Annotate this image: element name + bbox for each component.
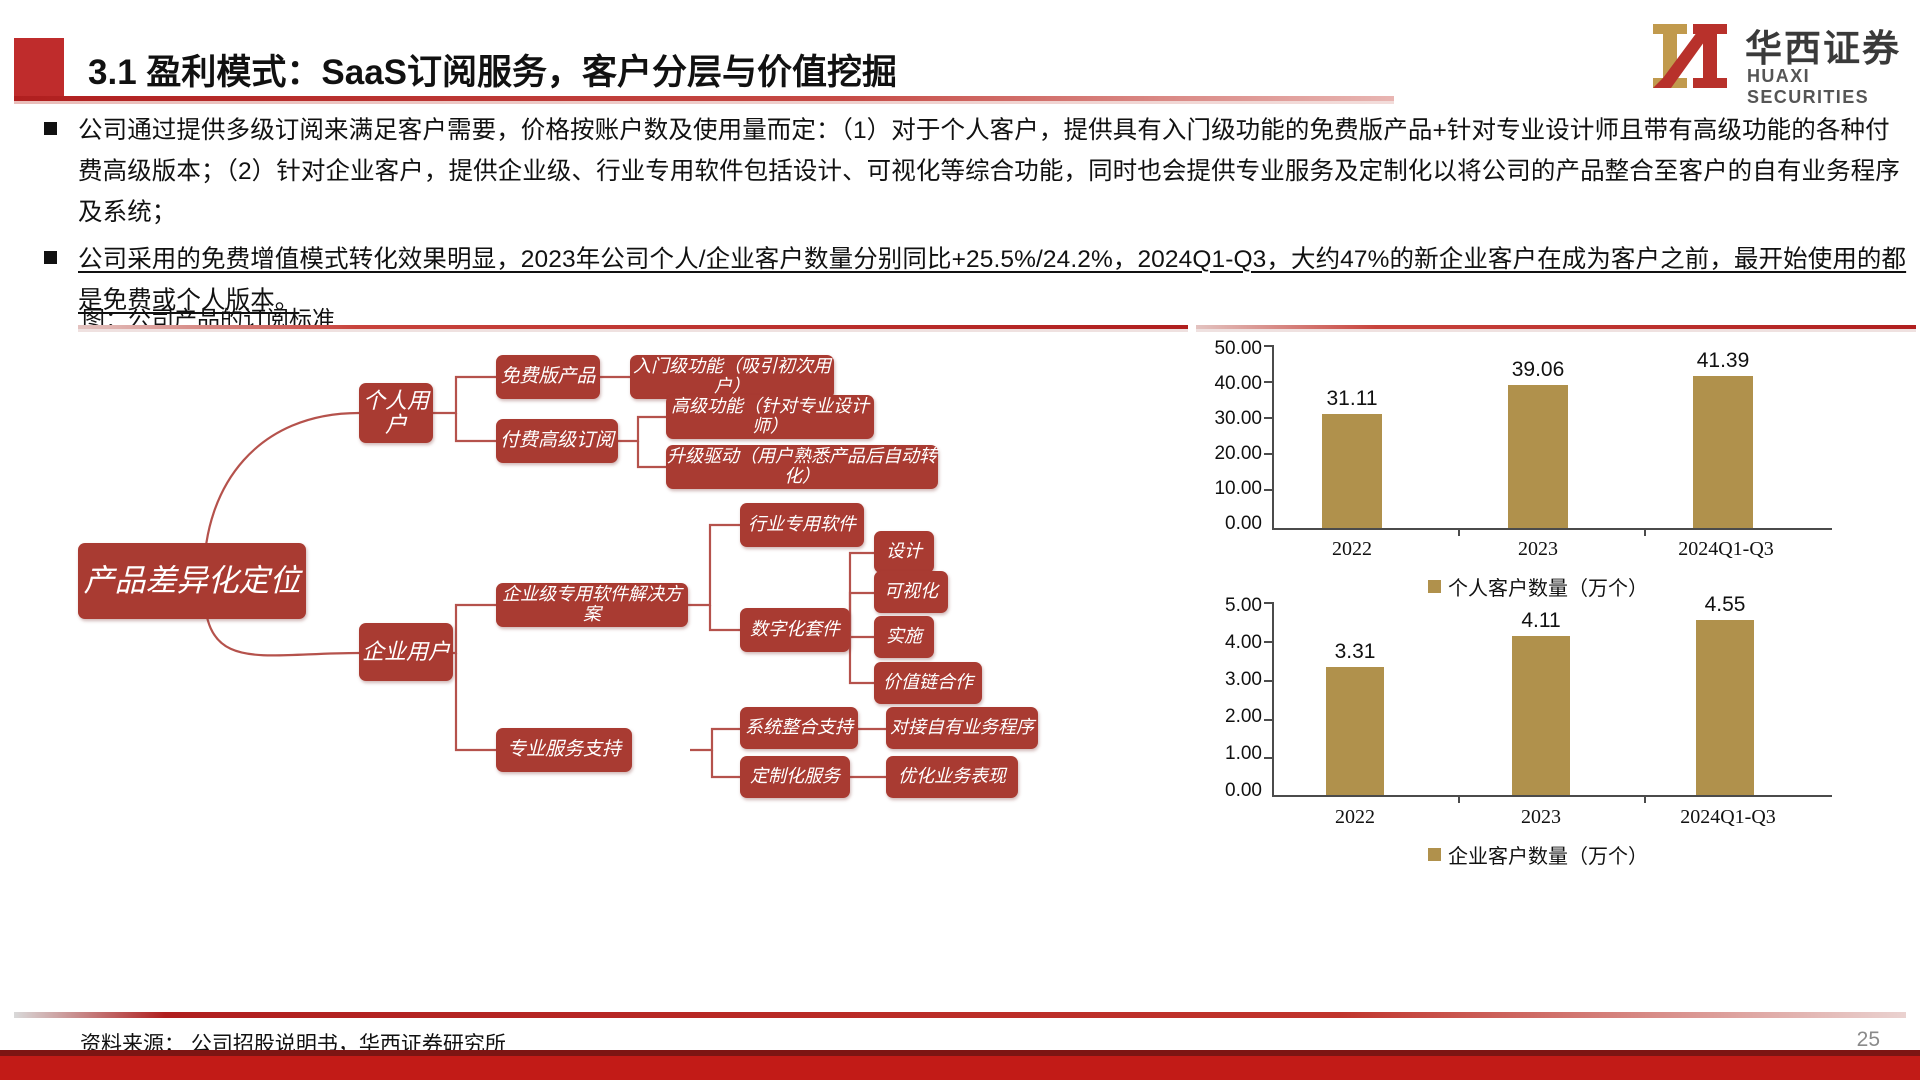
- bar-value-label: 31.11: [1302, 387, 1402, 411]
- y-tick-label: 1.00: [1196, 743, 1262, 765]
- bar-2024q1q3: [1693, 376, 1753, 528]
- huaxi-securities-logo: 华西证券 HUAXI SECURITIES: [1637, 14, 1902, 94]
- logo-h-icon: [1647, 20, 1733, 92]
- mindmap-node-personal[interactable]: 个人用户: [359, 383, 433, 443]
- x-axis-line: [1272, 795, 1832, 797]
- logo-text-en: HUAXI SECURITIES: [1747, 66, 1902, 108]
- x-category-label: 2024Q1-Q3: [1656, 538, 1796, 561]
- x-category-label: 2023: [1491, 806, 1591, 829]
- x-category-label: 2022: [1305, 806, 1405, 829]
- y-axis-tick: [1264, 381, 1272, 383]
- chart-top-rule-secondary: [1196, 329, 1916, 332]
- mindmap-node-own-business-program[interactable]: 对接自有业务程序: [886, 707, 1038, 749]
- x-axis-tick: [1458, 795, 1460, 803]
- y-axis-tick: [1264, 680, 1272, 682]
- footer-rule: [14, 1012, 1906, 1018]
- y-axis-tick: [1264, 719, 1272, 721]
- mindmap-node-value-chain[interactable]: 价值链合作: [874, 662, 982, 704]
- legend-label: 企业客户数量（万个）: [1448, 840, 1648, 869]
- bullet-square-icon: [44, 251, 57, 264]
- y-axis-line: [1272, 345, 1274, 529]
- y-axis-line: [1272, 602, 1274, 796]
- bullet-square-icon: [44, 122, 57, 135]
- mindmap-top-rule-secondary: [78, 329, 1188, 332]
- bullet-text: 公司采用的免费增值模式转化效果明显，2023年公司个人/企业客户数量分别同比+2…: [78, 239, 1910, 321]
- header-rule-secondary: [14, 101, 1394, 104]
- y-axis-tick: [1264, 417, 1272, 419]
- bullet-text: 公司通过提供多级订阅来满足客户需要，价格按账户数及使用量而定：（1）对于个人客户…: [78, 110, 1910, 233]
- mindmap-node-upgrade[interactable]: 升级驱动（用户熟悉产品后自动转化）: [666, 445, 938, 489]
- y-tick-label: 5.00: [1196, 595, 1262, 617]
- y-tick-label: 3.00: [1196, 669, 1262, 691]
- bar-value-label: 4.55: [1675, 593, 1775, 617]
- bar-2023: [1508, 385, 1568, 528]
- chart-legend: 企业客户数量（万个）: [1428, 840, 1648, 869]
- page-number: 25: [1857, 1028, 1880, 1052]
- y-tick-label: 2.00: [1196, 706, 1262, 728]
- y-axis-tick: [1264, 453, 1272, 455]
- mindmap-node-advanced[interactable]: 高级功能（针对专业设计师）: [666, 395, 874, 439]
- mindmap-node-visualization[interactable]: 可视化: [874, 571, 948, 613]
- mindmap-node-design[interactable]: 设计: [874, 531, 934, 573]
- header-accent-block: [14, 38, 64, 96]
- mindmap-node-paid[interactable]: 付费高级订阅: [496, 419, 618, 463]
- mindmap-node-custom-service[interactable]: 定制化服务: [740, 756, 850, 798]
- y-tick-label: 0.00: [1196, 780, 1262, 802]
- y-tick-label: 20.00: [1196, 443, 1262, 465]
- bar-2023: [1512, 636, 1570, 795]
- slide: 3.1 盈利模式：SaaS订阅服务，客户分层与价值挖掘 华西证券 HUAXI S…: [0, 0, 1920, 1080]
- x-axis-tick: [1644, 528, 1646, 536]
- x-axis-tick: [1644, 795, 1646, 803]
- y-tick-label: 30.00: [1196, 408, 1262, 430]
- y-axis-tick: [1264, 641, 1272, 643]
- mindmap-node-optimize-performance[interactable]: 优化业务表现: [886, 756, 1018, 798]
- bar-value-label: 41.39: [1673, 349, 1773, 373]
- mindmap-diagram: 产品差异化定位 个人用户 免费版产品 入门级功能（吸引初次用户） 付费高级订阅 …: [78, 325, 1188, 1025]
- mindmap-node-enterprise[interactable]: 企业用户: [359, 623, 453, 681]
- bar-value-label: 3.31: [1305, 640, 1405, 664]
- x-category-label: 2023: [1488, 538, 1588, 561]
- mindmap-node-root[interactable]: 产品差异化定位: [78, 543, 306, 619]
- x-axis-tick: [1458, 528, 1460, 536]
- mindmap-node-digital-suite[interactable]: 数字化套件: [740, 608, 850, 652]
- bar-2022: [1326, 667, 1384, 795]
- bar-2022: [1322, 414, 1382, 528]
- chart-personal-customers: 0.00 10.00 20.00 30.00 40.00 50.00 31.11…: [1196, 325, 1908, 605]
- logo-text-cn: 华西证券: [1745, 18, 1901, 72]
- y-axis-tick: [1264, 489, 1272, 491]
- bar-value-label: 39.06: [1488, 358, 1588, 382]
- legend-swatch-icon: [1428, 848, 1441, 861]
- mindmap-node-implementation[interactable]: 实施: [874, 616, 934, 658]
- x-category-label: 2024Q1-Q3: [1658, 806, 1798, 829]
- y-axis-tick: [1264, 345, 1272, 347]
- bar-2024q1q3: [1696, 620, 1754, 795]
- mindmap-node-system-integration[interactable]: 系统整合支持: [740, 707, 858, 749]
- y-tick-label: 10.00: [1196, 478, 1262, 500]
- mindmap-node-free[interactable]: 免费版产品: [496, 355, 600, 399]
- y-tick-label: 50.00: [1196, 338, 1262, 360]
- bullet-item: 公司通过提供多级订阅来满足客户需要，价格按账户数及使用量而定：（1）对于个人客户…: [14, 110, 1910, 233]
- y-tick-label: 0.00: [1196, 513, 1262, 535]
- mindmap-connectors: [78, 325, 1188, 1025]
- bar-value-label: 4.11: [1491, 609, 1591, 633]
- y-axis-tick: [1264, 757, 1272, 759]
- mindmap-node-entry[interactable]: 入门级功能（吸引初次用户）: [630, 355, 834, 399]
- page-title: 3.1 盈利模式：SaaS订阅服务，客户分层与价值挖掘: [88, 44, 897, 95]
- y-tick-label: 4.00: [1196, 632, 1262, 654]
- y-tick-label: 40.00: [1196, 373, 1262, 395]
- bullet-list: 公司通过提供多级订阅来满足客户需要，价格按账户数及使用量而定：（1）对于个人客户…: [14, 110, 1910, 327]
- mindmap-node-enterprise-software[interactable]: 企业级专用软件解决方案: [496, 583, 688, 627]
- x-category-label: 2022: [1302, 538, 1402, 561]
- y-axis-tick: [1264, 602, 1272, 604]
- mindmap-node-professional-service[interactable]: 专业服务支持: [496, 728, 632, 772]
- chart-enterprise-customers: 0.00 1.00 2.00 3.00 4.00 5.00 3.31 4.11 …: [1196, 580, 1908, 870]
- mindmap-node-industry-software[interactable]: 行业专用软件: [740, 503, 864, 547]
- x-axis-line: [1272, 528, 1832, 530]
- footer-band: [0, 1056, 1920, 1080]
